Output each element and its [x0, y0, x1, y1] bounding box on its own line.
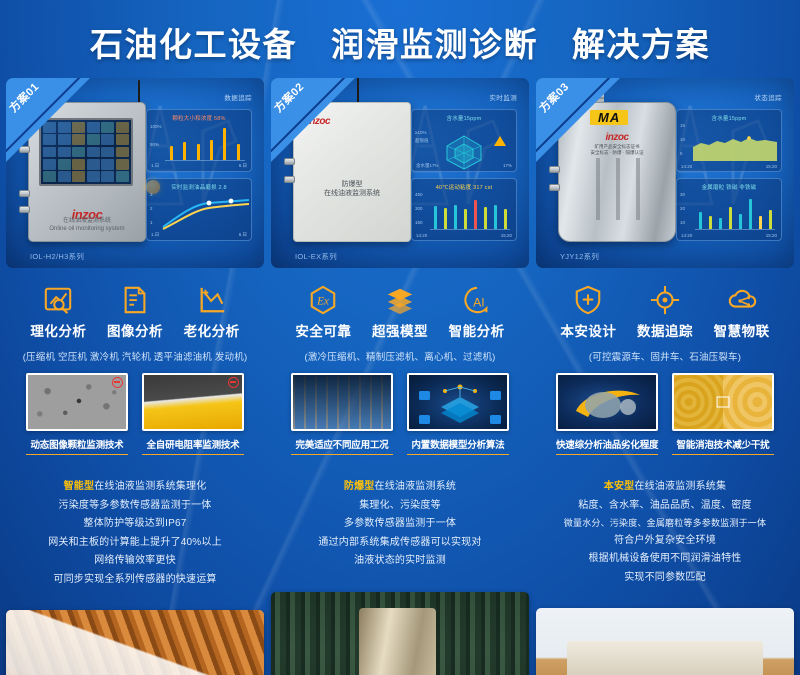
brand-subtitle-cn: 防爆型 [342, 181, 363, 188]
device-card-2: 方案02 inzoc 防爆型 在线油液监测系统 IOL-EX系列 实时监测 [271, 78, 529, 268]
x-tick-left: 14:20 [416, 233, 427, 238]
night-plant-art [293, 375, 391, 429]
x-tick-left: 含水量17% [416, 163, 439, 169]
feature-row: 理化分析 图像分析 [12, 285, 258, 340]
body-line: 根据机械设备使用不同润滑油特性 [546, 550, 784, 569]
feature-label: 本安设计 [560, 320, 616, 340]
y-tick-bot: 150 [415, 220, 423, 225]
feature-subtitle: (激冷压缩机、精制压滤机、离心机、过滤机) [277, 349, 523, 363]
features-card-3: 本安设计 数据追踪 [536, 275, 794, 459]
x-tick-left: 1.日 [151, 232, 159, 238]
solution-column-1: 方案01 [6, 78, 264, 675]
body-line: 可同步实现全系列传感器的快速运算 [16, 571, 254, 590]
panel-group-title: 状态追踪 [676, 92, 782, 102]
solution-columns: 方案01 [0, 78, 800, 675]
brand-subtitle: 防爆型 在线油液监测系统 [293, 180, 411, 199]
data-panel-stack-2: 实时监测 含水量15ppm ≥10% 超限值 含水量17% [411, 92, 517, 241]
compare-marker-icon [717, 397, 730, 408]
body-text: 在线油液监测系统集 [634, 481, 726, 492]
body-line: 污染度等多参数传感器监测于一体 [16, 497, 254, 516]
body-line: 实现不同参数匹配 [546, 569, 784, 588]
feature-item[interactable]: 数据追踪 [628, 285, 702, 340]
y-tick-bot: 5 [680, 151, 683, 156]
thumbnail-row: 快速综分析油品劣化程度 智能消泡技术减少干扰 [542, 373, 788, 455]
area-series [691, 127, 779, 161]
ex-hexagon-icon: Ex [308, 285, 338, 315]
body-line: 粘度、含水率、油品品质、温度、密度 [546, 497, 784, 516]
oil-after [723, 375, 772, 429]
oil-splash-icon [558, 375, 658, 431]
poster-page: 石油化工设备 润滑监测诊断 解决方案 方案01 [0, 0, 800, 675]
y-tick-mid: 10 [680, 137, 685, 142]
x-tick-left: 14:20 [681, 164, 692, 169]
bar-series [695, 196, 775, 230]
body-line: 多参数传感器监测于一体 [281, 515, 519, 534]
page-title-2: 润滑监测诊断 [331, 18, 538, 66]
body-line: 微量水分、污染度、金属磨粒等多参数监测于一体 [546, 515, 784, 532]
x-axis-labels: 1.日 6.日 [151, 232, 247, 238]
warning-icon [494, 136, 506, 146]
thumbnail-image[interactable] [142, 373, 244, 431]
device-card-3: 方案03 MA inzoc 矿用产品安全标志证书 安全标志 · 防爆 · 隔爆认… [536, 78, 794, 268]
body-line: 防爆型在线油液监测系统 [281, 478, 519, 497]
feature-label: 理化分析 [30, 320, 86, 340]
y-tick-mid: 2 [150, 206, 153, 211]
feature-item[interactable]: Ex 安全可靠 [286, 285, 360, 340]
layers-icon [385, 285, 415, 315]
side-port [549, 184, 560, 191]
feature-subtitle: (可控震源车、固井车、石油压裂车) [542, 349, 788, 363]
brand-subtitle-en: Online oil monitoring system [49, 226, 124, 232]
device-model-label: IOL-H2/H3系列 [30, 251, 84, 262]
bar-series [430, 196, 510, 230]
thumbnail-image[interactable] [407, 373, 509, 431]
y-tick-bot: 10 [680, 220, 685, 225]
mini-chart-panel: 颗粒大小和浓度 58% 100% 50% 1.日 6.日 [146, 109, 252, 172]
y-tick-mid: 超限值 [415, 138, 429, 144]
y-tick-bot: 1 [150, 220, 153, 225]
feature-label: 智能分析 [449, 320, 505, 340]
document-image-icon [120, 285, 150, 315]
feature-label: 图像分析 [107, 320, 163, 340]
thumbnail-item[interactable]: 全自研电阻率监测技术 [142, 373, 244, 455]
thumbnail-item[interactable]: 快速综分析油品劣化程度 [556, 373, 658, 455]
thumbnail-caption: 动态图像颗粒监测技术 [26, 437, 128, 455]
thumbnail-image[interactable] [556, 373, 658, 431]
body-line: 本安型在线油液监测系统集 [546, 478, 784, 497]
x-tick-right: 15:20 [766, 164, 777, 169]
thumbnail-row: 完美适应不同应用工况 [277, 373, 523, 455]
ai-icon: AI [462, 285, 492, 315]
x-tick-left: 14:20 [681, 233, 692, 238]
thumbnail-item[interactable]: 完美适应不同应用工况 [291, 373, 393, 455]
data-panel-stack-1: 数据追踪 颗粒大小和浓度 58% 100% 50% 1.日 6.日 [146, 92, 252, 241]
ribbon-badge-3: 方案03 [536, 78, 622, 164]
thumbnail-image[interactable] [26, 373, 128, 431]
feature-item[interactable]: 本安设计 [551, 285, 625, 340]
data-network-art [409, 375, 507, 429]
features-card-2: Ex 安全可靠 超强模型 [271, 275, 529, 459]
body-line: 智能型在线油液监测系统集理化 [16, 478, 254, 497]
thumbnail-item[interactable]: 智能消泡技术减少干扰 [672, 373, 774, 455]
y-tick-top: 15 [680, 123, 685, 128]
brand-subtitle: 在线油液监测系统 Online oil monitoring system [28, 217, 146, 233]
feature-item[interactable]: 理化分析 [21, 285, 95, 340]
ribbon-badge-1: 方案01 [6, 78, 92, 164]
svg-text:AI: AI [473, 296, 485, 310]
thumbnail-caption: 内置数据模型分析算法 [407, 437, 509, 455]
mini-chart-panel: 40℃运动粘度 317 cst 450 300 150 14:20 15 [411, 178, 517, 241]
feature-item[interactable]: 超强模型 [363, 285, 437, 340]
body-highlight: 本安型 [604, 481, 635, 492]
device-model-label: YJY12系列 [560, 251, 599, 262]
line-series [161, 194, 251, 230]
brand-subtitle-en: 在线油液监测系统 [324, 190, 380, 197]
y-tick-mid: 20 [680, 206, 685, 211]
body-text-2: 防爆型在线油液监测系统 集理化、污染度等 多参数传感器监测于一体 通过内部系统集… [271, 466, 529, 585]
mini-chart-title: 40℃运动粘度 317 cst [417, 183, 511, 191]
mini-chart-panel: 金属磨粒 铁磁 非铁磁 30 20 10 14:20 15:20 [676, 178, 782, 241]
mini-chart-title: 颗粒大小和浓度 58% [152, 114, 246, 122]
y-tick-top: 100% [150, 124, 162, 129]
chart-search-icon [43, 285, 73, 315]
feature-item[interactable]: 老化分析 [175, 285, 249, 340]
x-axis-labels: 14:20 15:20 [681, 164, 777, 169]
body-line: 油液状态的实时监测 [281, 552, 519, 571]
y-tick-mid: 50% [150, 142, 159, 147]
ribbon-badge-2: 方案02 [271, 78, 357, 164]
no-entry-icon [228, 377, 239, 388]
oil-splash-art [558, 375, 656, 429]
side-port [19, 190, 30, 197]
thumbnail-row: 动态图像颗粒监测技术 全自研电阻率监测技术 [12, 373, 258, 455]
body-text-3: 本安型在线油液监测系统集 粘度、含水率、油品品质、温度、密度 微量水分、污染度、… [536, 466, 794, 601]
mini-chart-title: 含水量15ppm [682, 114, 776, 122]
feature-row: 本安设计 数据追踪 [542, 285, 788, 340]
mini-chart-title: 含水量15ppm [417, 114, 511, 122]
body-line: 符合户外复杂安全环境 [546, 532, 784, 551]
cloud-iot-icon [727, 285, 757, 315]
thumbnail-item[interactable]: 动态图像颗粒监测技术 [26, 373, 128, 455]
thumbnail-caption: 全自研电阻率监测技术 [142, 437, 244, 455]
page-title-1: 石油化工设备 [90, 18, 297, 66]
photo-art [6, 610, 264, 675]
x-axis-labels: 14:20 15:20 [681, 233, 777, 238]
feature-label: 老化分析 [184, 320, 240, 340]
body-text: 在线油液监测系统集理化 [94, 481, 206, 492]
thumbnail-caption: 智能消泡技术减少干扰 [672, 437, 774, 455]
shield-plus-icon [573, 285, 603, 315]
feature-label: 智慧物联 [714, 320, 770, 340]
desert-vehicles-photo [536, 608, 794, 675]
thumbnail-item[interactable]: 内置数据模型分析算法 [407, 373, 509, 455]
x-tick-right: 6.日 [239, 232, 247, 238]
svg-text:Ex: Ex [316, 296, 329, 308]
device-model-label: IOL-EX系列 [295, 251, 337, 262]
target-icon [650, 285, 680, 315]
mini-chart-title: 金属磨粒 铁磁 非铁磁 [682, 183, 776, 191]
y-tick-top: 450 [415, 192, 423, 197]
brand-subtitle-cn: 在线油液监测系统 [63, 218, 111, 224]
features-card-1: 理化分析 图像分析 [6, 275, 264, 459]
panel-group-title: 数据追踪 [146, 92, 252, 102]
feature-item[interactable]: 智慧物联 [705, 285, 779, 340]
mini-chart-panel: 含水量15ppm 15 10 5 14:20 15:20 [676, 109, 782, 172]
refinery-piping-photo [6, 610, 264, 675]
x-tick-right: 6.日 [239, 163, 247, 169]
thumbnail-caption: 完美适应不同应用工况 [291, 437, 393, 455]
body-line: 网络传输效率更快 [16, 552, 254, 571]
y-tick-top: 30 [680, 192, 685, 197]
x-axis-labels: 含水量17% 17% [416, 163, 512, 169]
feature-label: 数据追踪 [637, 320, 693, 340]
body-highlight: 防爆型 [344, 481, 375, 492]
page-title-3: 解决方案 [572, 18, 710, 66]
y-tick-top: ≥10% [415, 130, 426, 135]
photo-art [271, 592, 529, 675]
body-line: 整体防护等级达到IP67 [16, 515, 254, 534]
x-axis-labels: 1.日 6.日 [151, 163, 247, 169]
feature-label: 安全可靠 [295, 320, 351, 340]
x-tick-left: 1.日 [151, 163, 159, 169]
page-header: 石油化工设备 润滑监测诊断 解决方案 [0, 0, 800, 78]
bar-series [165, 127, 245, 161]
data-panel-stack-3: 状态追踪 含水量15ppm 15 10 5 14:20 15:20 [676, 92, 782, 241]
feature-row: Ex 安全可靠 超强模型 [277, 285, 523, 340]
feature-subtitle: (压缩机 空压机 激冷机 汽轮机 透平油滤油机 发动机) [12, 349, 258, 363]
mini-chart-panel: 实时监测油品磨损 2.8 3 2 1 1.日 6.日 [146, 178, 252, 241]
thumbnail-image[interactable] [291, 373, 393, 431]
housing-ribs [580, 158, 654, 220]
body-text-1: 智能型在线油液监测系统集理化 污染度等多参数传感器监测于一体 整体防护等级达到I… [6, 466, 264, 603]
solution-column-2: 方案02 inzoc 防爆型 在线油液监测系统 IOL-EX系列 实时监测 [271, 78, 529, 675]
panel-group-title: 实时监测 [411, 92, 517, 102]
feature-label: 超强模型 [372, 320, 428, 340]
feature-item[interactable]: AI 智能分析 [440, 285, 514, 340]
x-tick-right: 15:20 [501, 233, 512, 238]
x-tick-right: 17% [503, 163, 512, 169]
mini-chart-panel: 含水量15ppm ≥10% 超限值 含水量17% 17% [411, 109, 517, 172]
solution-column-3: 方案03 MA inzoc 矿用产品安全标志证书 安全标志 · 防爆 · 隔爆认… [536, 78, 794, 675]
device-card-1: 方案01 [6, 78, 264, 268]
no-entry-icon [112, 377, 123, 388]
body-line: 通过内部系统集成传感器可以实现对 [281, 534, 519, 553]
refinery-column-photo [271, 592, 529, 675]
photo-art [536, 608, 794, 675]
y-tick-top: 3 [150, 192, 153, 197]
side-port [549, 166, 560, 173]
x-tick-right: 15:20 [766, 233, 777, 238]
thumbnail-image[interactable] [672, 373, 774, 431]
thumbnail-caption: 快速综分析油品劣化程度 [556, 437, 658, 455]
mini-chart-title: 实时监测油品磨损 2.8 [152, 183, 246, 191]
body-highlight: 智能型 [64, 481, 95, 492]
network-diagram-icon [409, 375, 509, 431]
body-line: 集理化、污染度等 [281, 497, 519, 516]
y-tick-mid: 300 [415, 206, 423, 211]
aging-curve-icon [197, 285, 227, 315]
x-axis-labels: 14:20 15:20 [416, 233, 512, 238]
body-line: 网关和主板的计算能上提升了40%以上 [16, 534, 254, 553]
body-text: 在线油液监测系统 [375, 481, 457, 492]
feature-item[interactable]: 图像分析 [98, 285, 172, 340]
